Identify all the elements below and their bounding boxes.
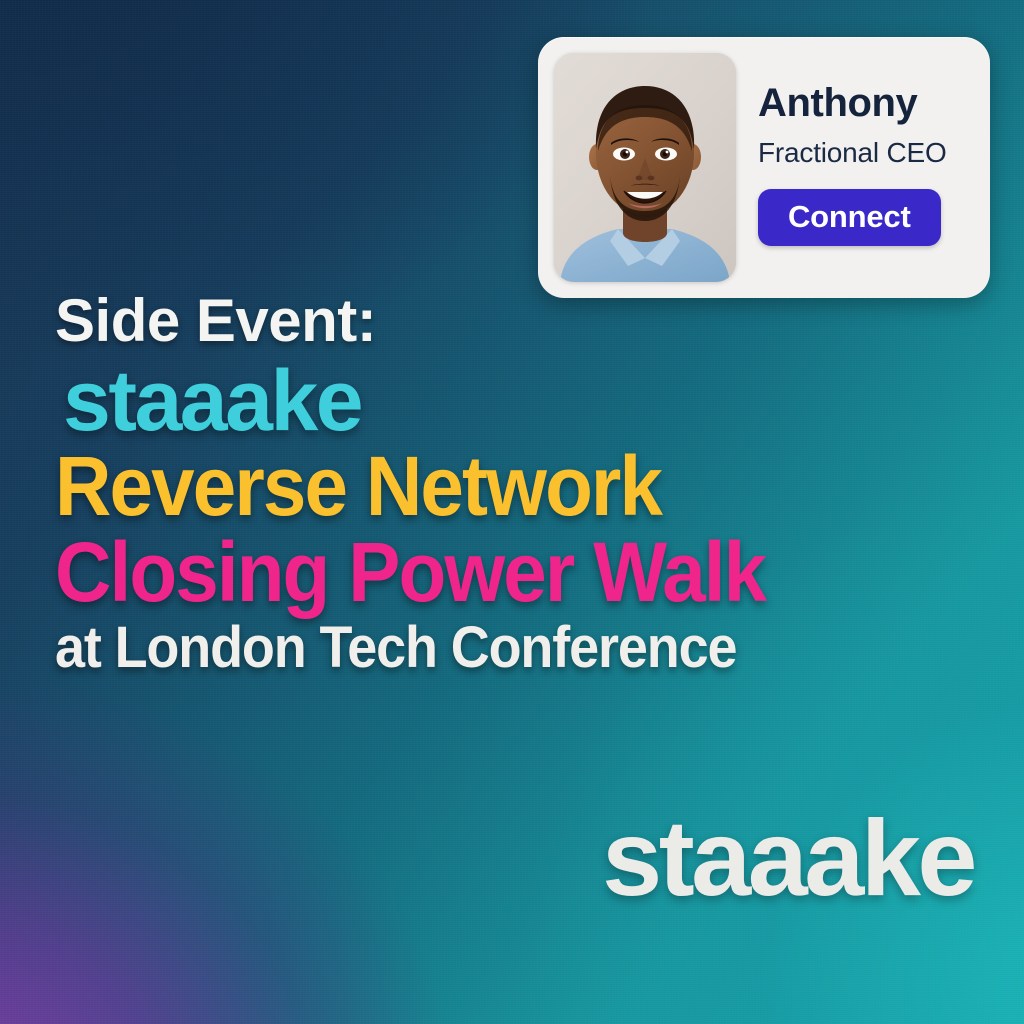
- promo-graphic: Anthony Fractional CEO Connect Side Even…: [0, 0, 1024, 1024]
- headline-line-yellow: Reverse Network: [55, 445, 901, 527]
- person-name: Anthony: [758, 83, 917, 123]
- headline-brand: staaake: [63, 359, 965, 443]
- headline-line-pink: Closing Power Walk: [55, 531, 901, 613]
- headline-subtitle: at London Tech Conference: [55, 620, 901, 677]
- headline-eyebrow: Side Event:: [55, 292, 965, 351]
- profile-card[interactable]: Anthony Fractional CEO Connect: [538, 37, 990, 298]
- headline-block: Side Event: staaake Reverse Network Clos…: [55, 292, 965, 677]
- connect-button[interactable]: Connect: [758, 189, 941, 246]
- person-title: Fractional CEO: [758, 139, 947, 167]
- footer-wordmark: staaake: [602, 804, 974, 912]
- profile-card-details: Anthony Fractional CEO Connect: [736, 53, 974, 246]
- avatar: [554, 53, 736, 282]
- avatar-portrait-illustration: [554, 53, 736, 282]
